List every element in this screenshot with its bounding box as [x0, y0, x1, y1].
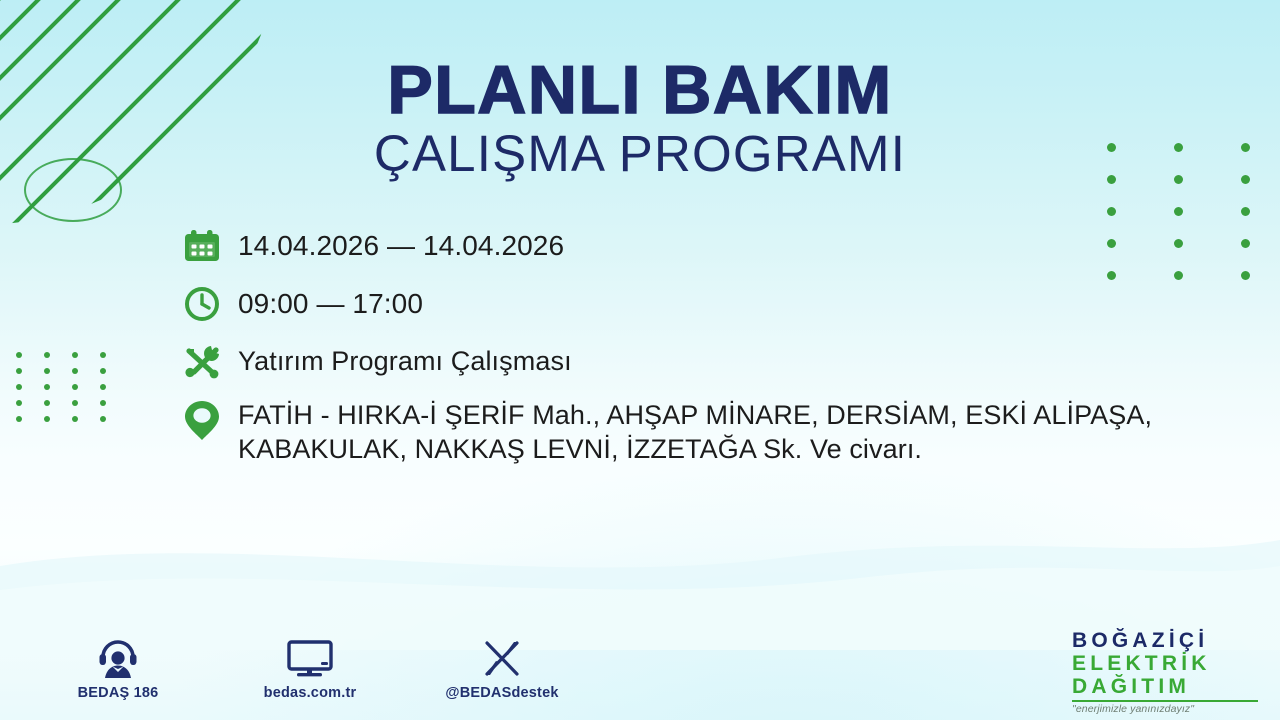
contact-x-label: @BEDASdestek: [442, 685, 562, 701]
brand-divider: [1072, 700, 1258, 702]
page-title: PLANLI BAKIM ÇALIŞMA PROGRAMI: [0, 56, 1280, 179]
brand-line-3: DAĞITIM: [1072, 676, 1258, 697]
maintenance-details: 14.04.2026 — 14.04.2026 09:00 — 17:00: [180, 222, 1160, 476]
detail-row-work-type: Yatırım Programı Çalışması: [180, 338, 1160, 386]
time-range-text: 09:00 — 17:00: [238, 280, 423, 320]
address-text: FATİH - HIRKA-İ ŞERİF Mah., AHŞAP MİNARE…: [238, 396, 1160, 466]
contact-x-account[interactable]: @BEDASdestek: [442, 636, 562, 701]
brand-line-2: ELEKTRİK: [1072, 653, 1258, 674]
clock-icon: [180, 280, 238, 328]
brand-logo: BOĞAZİÇİ ELEKTRİK DAĞITIM "enerjimizle y…: [1072, 630, 1258, 714]
date-range-text: 14.04.2026 — 14.04.2026: [238, 222, 564, 262]
contact-phone-label: BEDAŞ 186: [58, 685, 178, 701]
contact-phone[interactable]: BEDAŞ 186: [58, 636, 178, 701]
title-subtitle: ÇALIŞMA PROGRAMI: [0, 128, 1280, 179]
background-swoosh: [0, 470, 1280, 650]
contact-website-label: bedas.com.tr: [250, 685, 370, 701]
work-type-text: Yatırım Programı Çalışması: [238, 338, 572, 378]
detail-row-address: FATİH - HIRKA-İ ŞERİF Mah., AHŞAP MİNARE…: [180, 396, 1160, 466]
support-headset-icon: [58, 636, 178, 678]
x-twitter-icon: [442, 636, 562, 678]
brand-tagline: "enerjimizle yanınızdayız": [1072, 704, 1258, 715]
detail-row-time: 09:00 — 17:00: [180, 280, 1160, 328]
calendar-icon: [180, 222, 238, 270]
monitor-icon: [250, 636, 370, 678]
map-pin-icon: [180, 396, 238, 444]
detail-row-date: 14.04.2026 — 14.04.2026: [180, 222, 1160, 270]
contact-website[interactable]: bedas.com.tr: [250, 636, 370, 701]
footer-contacts: BEDAŞ 186 bedas.com.tr: [58, 636, 562, 701]
dot-grid-left-decoration: [16, 352, 128, 432]
planned-maintenance-poster: PLANLI BAKIM ÇALIŞMA PROGRAMI: [0, 0, 1280, 720]
brand-line-1: BOĞAZİÇİ: [1072, 630, 1258, 651]
title-main: PLANLI BAKIM: [0, 56, 1280, 124]
tools-icon: [180, 338, 238, 386]
